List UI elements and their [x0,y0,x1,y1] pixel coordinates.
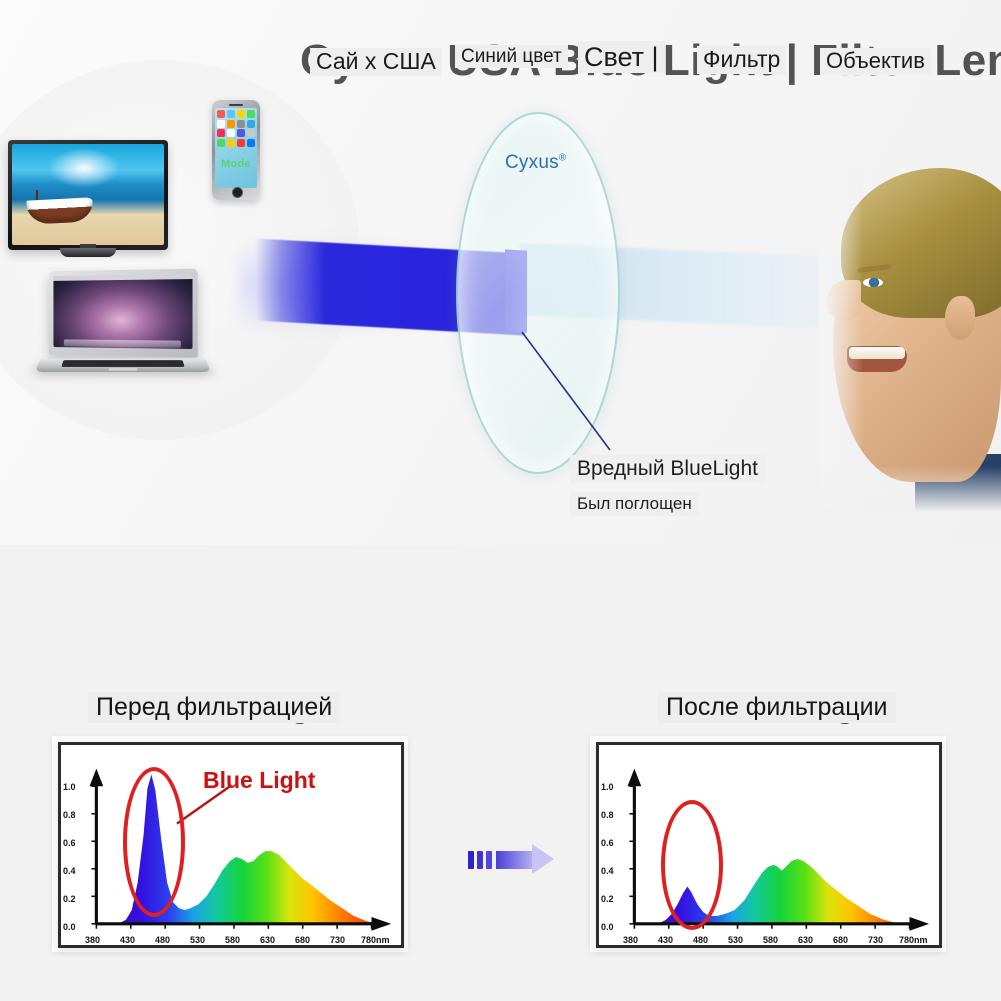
x-tick-630: 630 [798,935,813,945]
after-filtering-label: После фильтрации [658,692,896,723]
tv-bezel [8,140,168,250]
registered-trademark-icon: ® [559,153,567,164]
phone-app-grid [217,110,255,186]
x-tick-430: 430 [658,935,673,945]
laptop-dock [64,339,181,347]
y-tick-04: 0.4 [63,866,76,876]
arrow-body [496,851,534,869]
phone-speaker [229,104,243,106]
phone-screen [215,108,257,188]
y-tick-00: 0.0 [601,922,614,932]
y-tick-1: 1.0 [601,782,614,792]
tv-screen [12,144,164,245]
before-filtering-chart: 1.0 0.8 0.6 0.4 0.2 0.0 380 430 480 530 … [58,742,404,948]
x-tick-580: 580 [763,935,778,945]
before-filtering-label: Перед фильтрацией [88,692,340,723]
y-tick-08: 0.8 [601,810,614,820]
blue-light-highlight-circle [661,800,723,930]
smartphone-device: Mode [212,100,260,200]
phone-mode-overlay-label: Mode [214,158,258,170]
callout-leader-line [520,330,615,455]
person-eye [863,278,883,287]
laptop-lid [49,269,198,358]
mid-title-section: HEV-ABSORB Technology HEV-ABSORB Техноло… [0,545,1001,665]
arrow-dash-1 [468,851,474,869]
person-ear [945,296,975,340]
transition-arrow [468,845,558,875]
x-tick-580: 580 [225,935,240,945]
hero-section: Cyxus USA Blue Light | Filter Lens [0,0,1001,545]
laptop-menubar [53,274,192,281]
photo-left-fade [819,168,863,512]
callout-line-1: Вредный BlueLight [570,455,765,483]
x-tick-530: 530 [190,935,205,945]
x-tick-630: 630 [260,935,275,945]
page-root: Cyxus USA Blue Light | Filter Lens [0,0,1001,1001]
x-tick-730: 730 [868,935,883,945]
lens-brand-label: Cyxus® [505,152,566,174]
x-axis-unit-label: 780nm [361,935,390,945]
after-filtering-chart: 1.0 0.8 0.6 0.4 0.2 0.0 380 430 480 530 … [596,742,942,948]
arrow-dash-3 [486,851,492,869]
y-tick-08: 0.8 [63,810,76,820]
laptop-keyboard [61,360,185,367]
laptop-base [35,358,211,372]
x-tick-480: 480 [693,935,708,945]
chip-lens: Объектив [820,48,931,75]
y-tick-02: 0.2 [601,894,614,904]
x-tick-480: 480 [155,935,170,945]
after-chart-plot [599,745,939,947]
x-axis-unit-label: 780nm [899,935,928,945]
arrow-head [532,844,554,874]
x-tick-530: 530 [728,935,743,945]
chip-cyxus-usa: Сай x США [310,48,442,76]
laptop-device [38,270,208,380]
blue-light-annotation: Blue Light [203,767,315,794]
y-tick-06: 0.6 [601,838,614,848]
x-tick-730: 730 [330,935,345,945]
person-face-photo [819,168,1001,512]
phone-home-button [232,187,243,198]
lens-brand-text: Cyxus [505,152,559,173]
photo-bottom-fade [819,466,1001,512]
chip-blue-color: Синий цвет [455,45,568,68]
y-tick-00: 0.0 [63,922,76,932]
blue-light-highlight-circle [123,767,185,917]
x-tick-680: 680 [295,935,310,945]
chip-filter: Фильтр [697,46,786,74]
television-device [8,140,168,250]
tv-sun-glow [48,148,120,188]
y-tick-02: 0.2 [63,894,76,904]
person-hair [841,168,1001,318]
y-tick-06: 0.6 [63,838,76,848]
x-tick-380: 380 [623,935,638,945]
y-tick-1: 1.0 [63,782,76,792]
arrow-dash-2 [477,851,483,869]
x-tick-680: 680 [833,935,848,945]
tv-boat [27,197,94,224]
tv-stand [60,248,116,257]
laptop-screen [53,274,192,349]
chip-light: Свет | [578,41,665,73]
y-tick-04: 0.4 [601,866,614,876]
x-tick-380: 380 [85,935,100,945]
x-tick-430: 430 [120,935,135,945]
callout-line-2: Был поглощен [570,492,699,516]
laptop-trackpad [109,368,137,371]
